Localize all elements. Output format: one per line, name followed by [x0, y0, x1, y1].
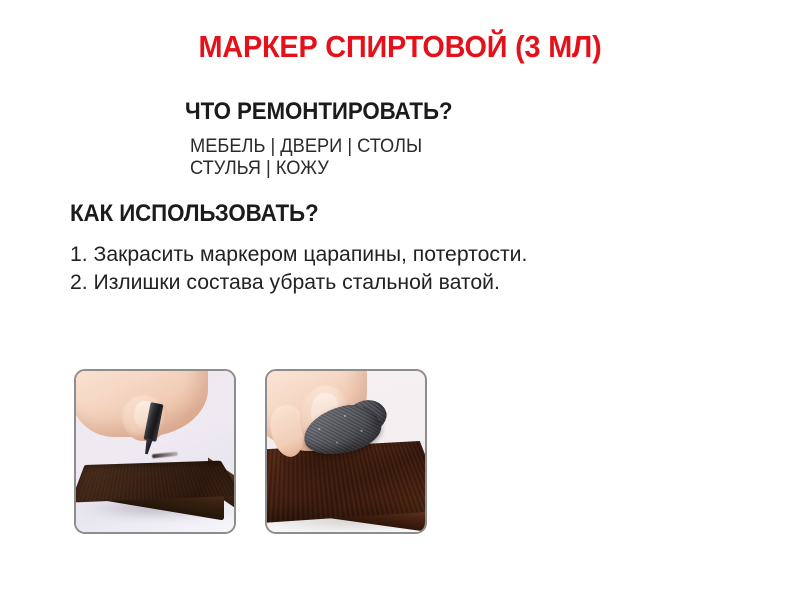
photo-rubbing-steel-wool	[265, 369, 427, 534]
wood-block-top-face	[76, 461, 234, 503]
photo-rubbing-steel-wool-scene	[267, 371, 425, 532]
section-what-items-line-1: МЕБЕЛЬ | ДВЕРИ | СТОЛЫ	[190, 136, 422, 158]
poster-canvas: МАРКЕР СПИРТОВОЙ (3 МЛ) ЧТО РЕМОНТИРОВАТ…	[0, 0, 800, 600]
photo-applying-marker	[74, 369, 236, 534]
section-how-step-1: 1. Закрасить маркером царапины, потертос…	[70, 240, 527, 268]
page-title: МАРКЕР СПИРТОВОЙ (3 МЛ)	[28, 30, 772, 64]
section-what-items-line-2: СТУЛЬЯ | КОЖУ	[190, 158, 422, 180]
section-what-heading: ЧТО РЕМОНТИРОВАТЬ?	[185, 99, 452, 125]
photo-applying-marker-scene	[76, 371, 234, 532]
section-what-items: МЕБЕЛЬ | ДВЕРИ | СТОЛЫ СТУЛЬЯ | КОЖУ	[190, 136, 422, 180]
section-how-step-2: 2. Излишки состава убрать стальной ватой…	[70, 268, 527, 296]
section-how-steps: 1. Закрасить маркером царапины, потертос…	[70, 240, 527, 296]
section-how-heading: КАК ИСПОЛЬЗОВАТЬ?	[70, 201, 319, 227]
